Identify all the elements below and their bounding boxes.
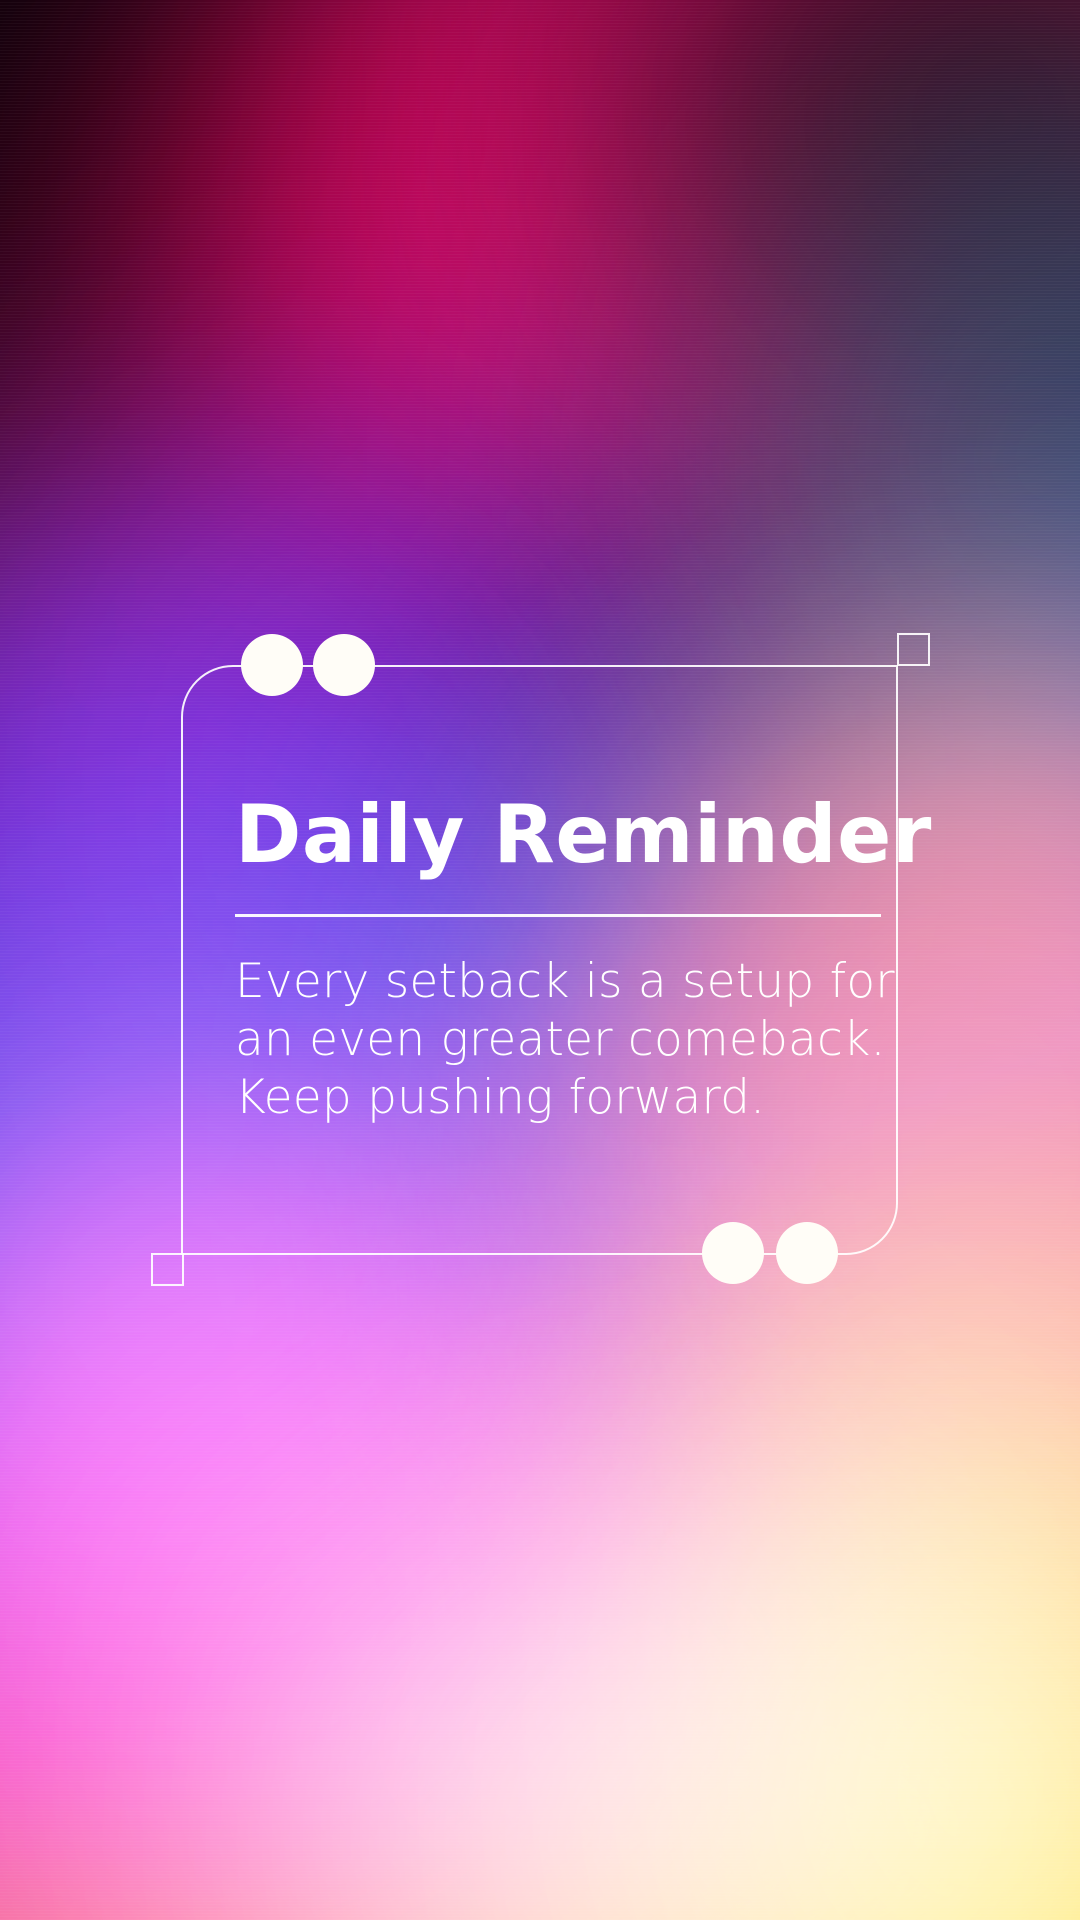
body-line-3: Keep pushing forward. xyxy=(235,1069,835,1127)
quote-card-content: Daily Reminder Every setback is a setup … xyxy=(235,790,875,1127)
title-divider xyxy=(235,914,881,917)
body-line-2: an even greater comeback. xyxy=(235,1011,835,1069)
poster-canvas: Daily Reminder Every setback is a setup … xyxy=(0,0,1080,1920)
card-body-text: Every setback is a setup for an even gre… xyxy=(235,953,835,1127)
body-line-1: Every setback is a setup for xyxy=(235,953,835,1011)
card-title: Daily Reminder xyxy=(235,790,875,880)
